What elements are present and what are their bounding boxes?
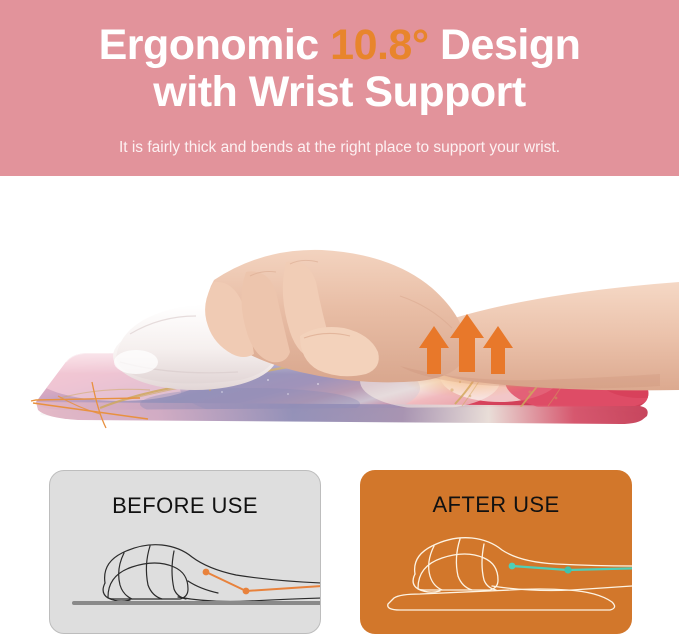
page-title-line2: with Wrist Support	[0, 69, 679, 116]
panel-before-use: BEFORE USE	[49, 470, 321, 634]
page-title: Ergonomic 10.8° Design with Wrist Suppor…	[0, 22, 679, 116]
panel-after-use: AFTER USE	[360, 470, 632, 634]
before-use-illustration	[50, 471, 321, 634]
desk-surface	[72, 601, 321, 605]
page-title-angle-accent: 10.8°	[330, 21, 428, 69]
comparison-panels: BEFORE USE	[0, 462, 679, 644]
page-title-part1: Ergonomic	[99, 21, 331, 69]
product-photo-illustration	[0, 176, 679, 458]
after-use-illustration	[360, 470, 632, 634]
page-subtitle: It is fairly thick and bends at the righ…	[0, 138, 679, 158]
header-banner: Ergonomic 10.8° Design with Wrist Suppor…	[0, 0, 679, 176]
page-title-part2: Design	[429, 21, 581, 69]
product-photo: 10.8°	[0, 176, 679, 458]
